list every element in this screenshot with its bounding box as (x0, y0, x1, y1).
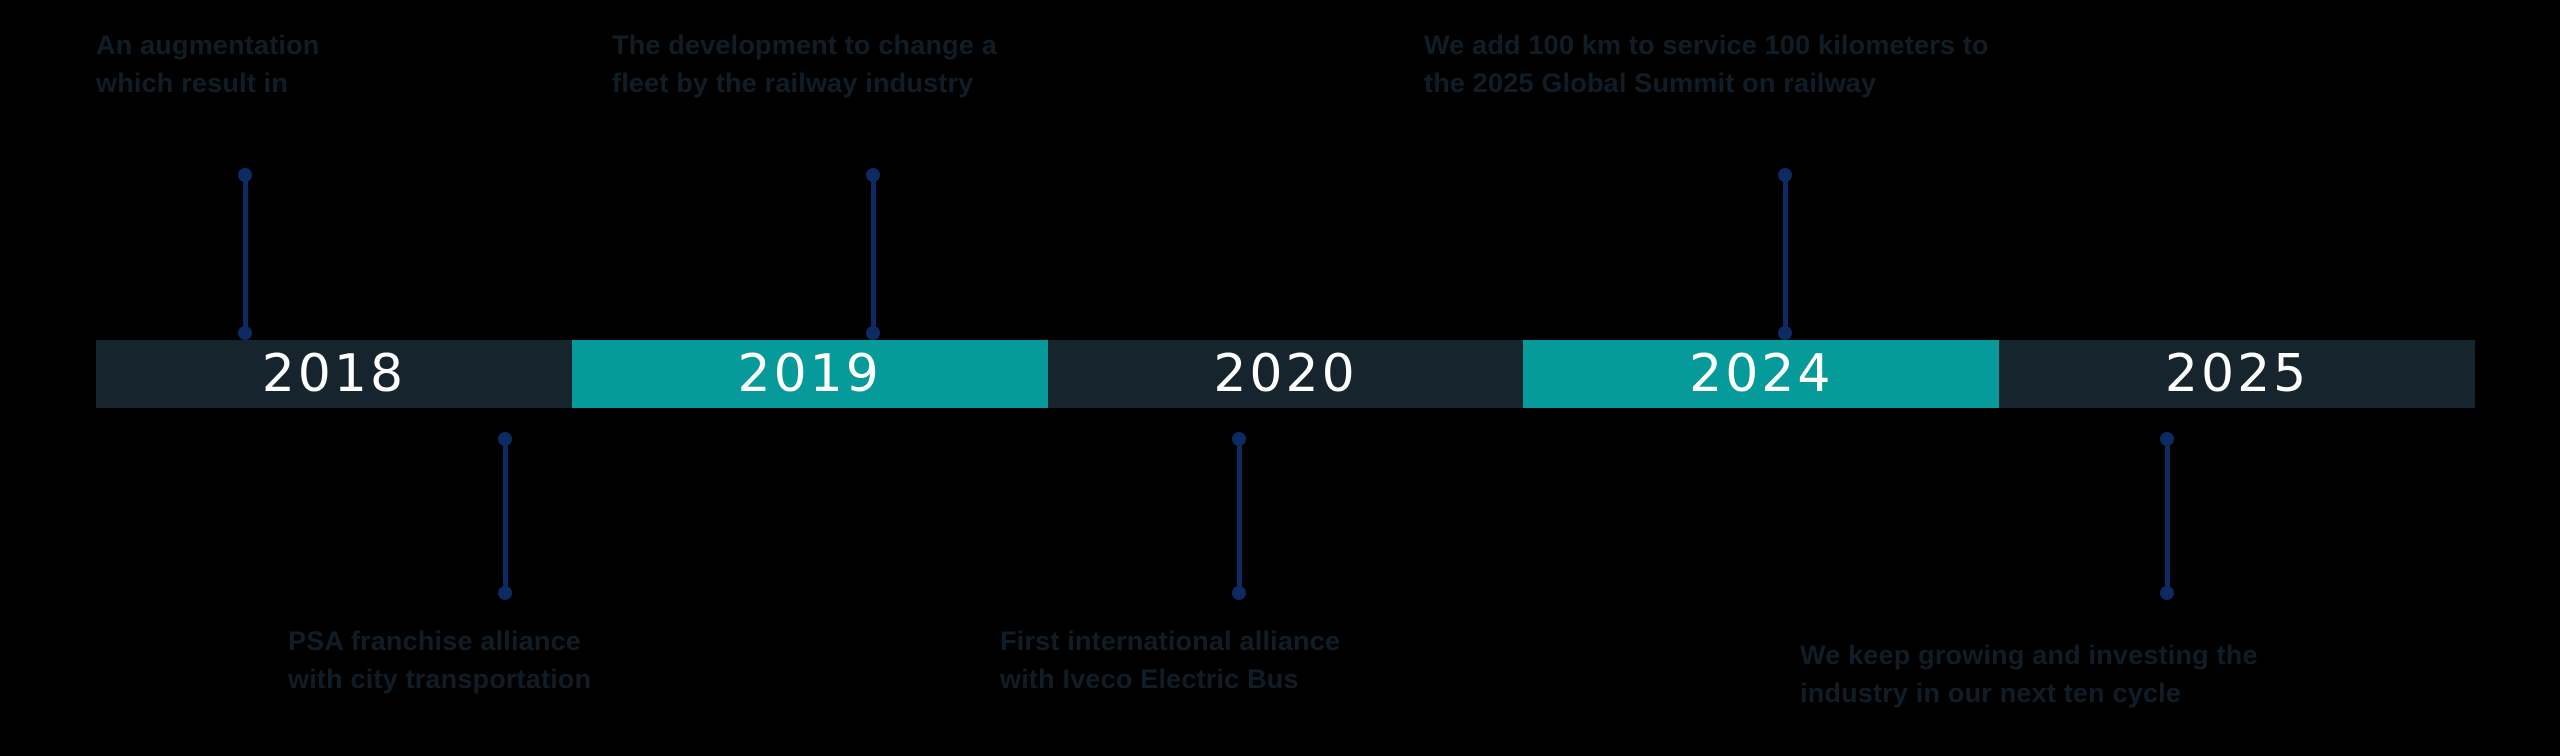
caption-above-2018: An augmentation which result in (96, 26, 320, 103)
caption-below-2025: We keep growing and investing the indust… (1800, 636, 2258, 713)
caption-above-2024: We add 100 km to service 100 kilometers … (1424, 26, 1989, 103)
connector-below-2025 (2160, 432, 2174, 600)
connector-above-2019 (866, 168, 880, 340)
caption-line: The development to change a (612, 26, 997, 64)
caption-line: industry in our next ten cycle (1800, 674, 2258, 712)
connector-dot (1778, 326, 1792, 340)
connector-above-2024 (1778, 168, 1792, 340)
caption-line: We add 100 km to service 100 kilometers … (1424, 26, 1989, 64)
connector-stem (1237, 439, 1242, 593)
connector-above-2018 (238, 168, 252, 340)
year-segment-2018[interactable]: 2018 (96, 340, 572, 408)
caption-below-2018: PSA franchise alliance with city transpo… (288, 622, 591, 699)
year-segment-2020[interactable]: 2020 (1048, 340, 1524, 408)
year-segment-2025[interactable]: 2025 (1999, 340, 2475, 408)
caption-line: with Iveco Electric Bus (1000, 660, 1340, 698)
caption-line: We keep growing and investing the (1800, 636, 2258, 674)
connector-dot (2160, 586, 2174, 600)
caption-line: with city transportation (288, 660, 591, 698)
year-segment-2024[interactable]: 2024 (1523, 340, 1999, 408)
caption-line: An augmentation (96, 26, 320, 64)
year-label: 2019 (738, 348, 882, 400)
caption-below-2020: First international alliance with Iveco … (1000, 622, 1340, 699)
connector-dot (866, 326, 880, 340)
connector-stem (243, 175, 248, 333)
connector-dot (1232, 586, 1246, 600)
connector-stem (503, 439, 508, 593)
timeline-figure: An augmentation which result in The deve… (0, 0, 2560, 756)
caption-line: the 2025 Global Summit on railway (1424, 64, 1989, 102)
connector-stem (871, 175, 876, 333)
connector-dot (498, 586, 512, 600)
connector-stem (1783, 175, 1788, 333)
year-bar: 2018 2019 2020 2024 2025 (96, 340, 2475, 408)
connector-stem (2165, 439, 2170, 593)
caption-above-2019: The development to change a fleet by the… (612, 26, 997, 103)
connector-below-2018 (498, 432, 512, 600)
caption-line: fleet by the railway industry (612, 64, 997, 102)
caption-line: which result in (96, 64, 320, 102)
year-label: 2025 (2165, 348, 2309, 400)
year-label: 2018 (262, 348, 406, 400)
year-segment-2019[interactable]: 2019 (572, 340, 1048, 408)
caption-line: PSA franchise alliance (288, 622, 591, 660)
year-label: 2024 (1689, 348, 1833, 400)
year-label: 2020 (1213, 348, 1357, 400)
caption-line: First international alliance (1000, 622, 1340, 660)
connector-below-2020 (1232, 432, 1246, 600)
connector-dot (238, 326, 252, 340)
